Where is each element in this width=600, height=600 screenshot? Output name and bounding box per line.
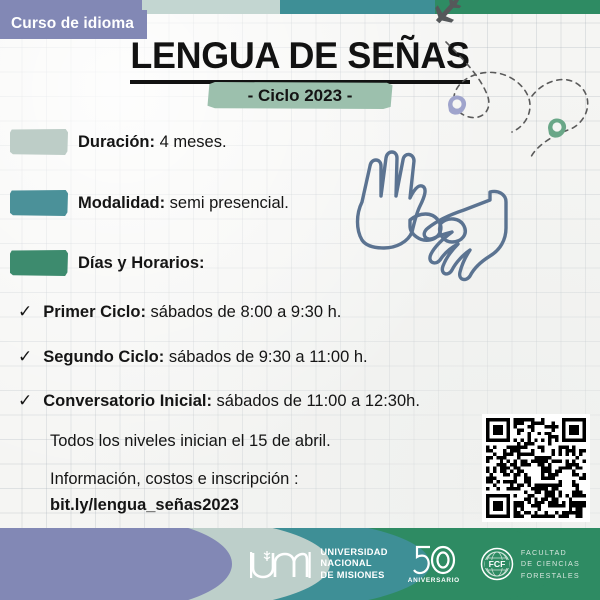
accent-brush-teal (10, 190, 68, 216)
fcf-seal-icon: FCF (480, 547, 514, 581)
footer-logos: UNIVERSIDAD NACIONAL DE MISIONES ANIVERS… (0, 528, 600, 600)
location-pin-purple (448, 95, 466, 114)
unam-line-2: NACIONAL (320, 558, 387, 570)
footer: UNIVERSIDAD NACIONAL DE MISIONES ANIVERS… (0, 528, 600, 600)
anniversary-label: ANIVERSARIO (408, 577, 460, 584)
unam-logo: UNIVERSIDAD NACIONAL DE MISIONES (249, 547, 387, 582)
check-icon: ✓ (18, 303, 32, 320)
list-item-value: sábados de 9:30 a 11:00 h. (164, 348, 367, 366)
airplane-icon (430, 0, 467, 29)
list-item-label: Conversatorio Inicial: (43, 392, 212, 410)
info-row-label: Duración: (78, 133, 155, 151)
unam-line-1: UNIVERSIDAD (320, 547, 387, 559)
list-item: ✓ Conversatorio Inicial: sábados de 11:0… (18, 392, 420, 411)
fifty-years-icon (411, 544, 457, 576)
info-row-duracion: Duración: 4 meses. (10, 129, 227, 155)
fcf-line-1: FACULTAD (521, 547, 580, 558)
location-pin-green (548, 118, 566, 137)
info-row-text: Duración: 4 meses. (78, 133, 227, 152)
info-row-label: Días y Horarios: (78, 254, 205, 272)
accent-brush-green (10, 250, 68, 276)
unam-line-3: DE MISIONES (320, 570, 387, 582)
unam-mark-icon (249, 547, 311, 581)
dashed-trail-left (446, 42, 530, 132)
poster: Curso de idioma LENGUA DE SEÑAS - Ciclo … (0, 0, 600, 600)
info-row-value: 4 meses. (155, 133, 227, 151)
fcf-seal-text: FCF (489, 559, 506, 569)
list-item: ✓ Primer Ciclo: sábados de 8:00 a 9:30 h… (18, 303, 341, 322)
subtitle-banner: - Ciclo 2023 - (208, 82, 393, 109)
sign-language-hands-illustration (340, 140, 540, 290)
list-item-value: sábados de 11:00 a 12:30h. (212, 392, 420, 410)
list-item-text: Segundo Ciclo: sábados de 9:30 a 11:00 h… (43, 348, 367, 367)
list-item-text: Conversatorio Inicial: sábados de 11:00 … (43, 392, 420, 411)
info-row-text: Días y Horarios: (78, 254, 205, 273)
start-date-text: Todos los niveles inician el 15 de abril… (50, 432, 331, 451)
check-icon: ✓ (18, 392, 32, 409)
fcf-logo: FCF FACULTAD DE CIENCIAS FORESTALES (480, 547, 580, 581)
anniversary-logo: ANIVERSARIO (408, 544, 460, 584)
accent-brush-sage (10, 129, 68, 155)
list-item-label: Primer Ciclo: (43, 303, 146, 321)
qr-code[interactable] (482, 414, 590, 522)
info-row-modalidad: Modalidad: semi presencial. (10, 190, 289, 216)
info-row-text: Modalidad: semi presencial. (78, 194, 289, 213)
fcf-line-3: FORESTALES (521, 570, 580, 581)
subtitle-text: - Ciclo 2023 - (208, 82, 393, 109)
top-band-sage (142, 0, 280, 14)
list-item-text: Primer Ciclo: sábados de 8:00 a 9:30 h. (43, 303, 341, 322)
registration-link[interactable]: bit.ly/lengua_señas2023 (50, 496, 239, 515)
check-icon: ✓ (18, 348, 32, 365)
list-item-value: sábados de 8:00 a 9:30 h. (146, 303, 341, 321)
list-item-label: Segundo Ciclo: (43, 348, 164, 366)
info-label-text: Información, costos e inscripción : (50, 470, 299, 489)
unam-logo-text: UNIVERSIDAD NACIONAL DE MISIONES (320, 547, 387, 582)
list-item: ✓ Segundo Ciclo: sábados de 9:30 a 11:00… (18, 348, 368, 367)
info-row-dias-horarios: Días y Horarios: (10, 250, 205, 276)
fcf-line-2: DE CIENCIAS (521, 558, 580, 569)
info-row-label: Modalidad: (78, 194, 165, 212)
info-row-value: semi presencial. (165, 194, 289, 212)
plane-trail-decoration (400, 0, 600, 160)
fcf-logo-text: FACULTAD DE CIENCIAS FORESTALES (521, 547, 580, 580)
